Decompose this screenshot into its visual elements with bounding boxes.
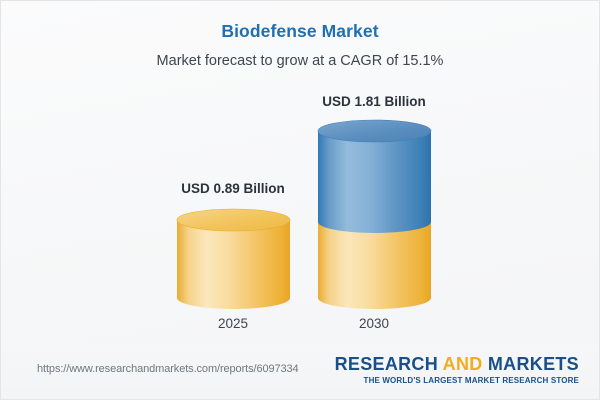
plot-area: USD 0.89 Billion: [1, 1, 600, 346]
data-label-2025: USD 0.89 Billion: [113, 181, 353, 196]
bar-cylinder-2030[interactable]: [318, 120, 431, 309]
logo-word-markets: MARKETS: [488, 354, 579, 374]
report-url[interactable]: https://www.researchandmarkets.com/repor…: [37, 363, 299, 375]
research-and-markets-logo[interactable]: RESEARCH AND MARKETS THE WORLD'S LARGEST…: [335, 355, 579, 385]
bar-body-2025: [177, 220, 290, 309]
bar-top-2030: [318, 120, 431, 142]
bar-top-2025: [177, 209, 290, 231]
footer: https://www.researchandmarkets.com/repor…: [1, 344, 600, 399]
bar-segment-base-2030: [318, 222, 431, 309]
bar-cylinder-2025[interactable]: [177, 209, 290, 309]
logo-tagline: THE WORLD'S LARGEST MARKET RESEARCH STOR…: [335, 376, 579, 385]
data-label-2030: USD 1.81 Billion: [254, 94, 494, 109]
logo-word-and: AND: [443, 354, 483, 374]
logo-word-research: RESEARCH: [335, 354, 438, 374]
category-label-2030: 2030: [254, 316, 494, 331]
bar-segment-growth-2030: [318, 131, 431, 233]
chart-card: Biodefense Market Market forecast to gro…: [0, 0, 600, 400]
logo-wordmark: RESEARCH AND MARKETS: [335, 355, 579, 374]
